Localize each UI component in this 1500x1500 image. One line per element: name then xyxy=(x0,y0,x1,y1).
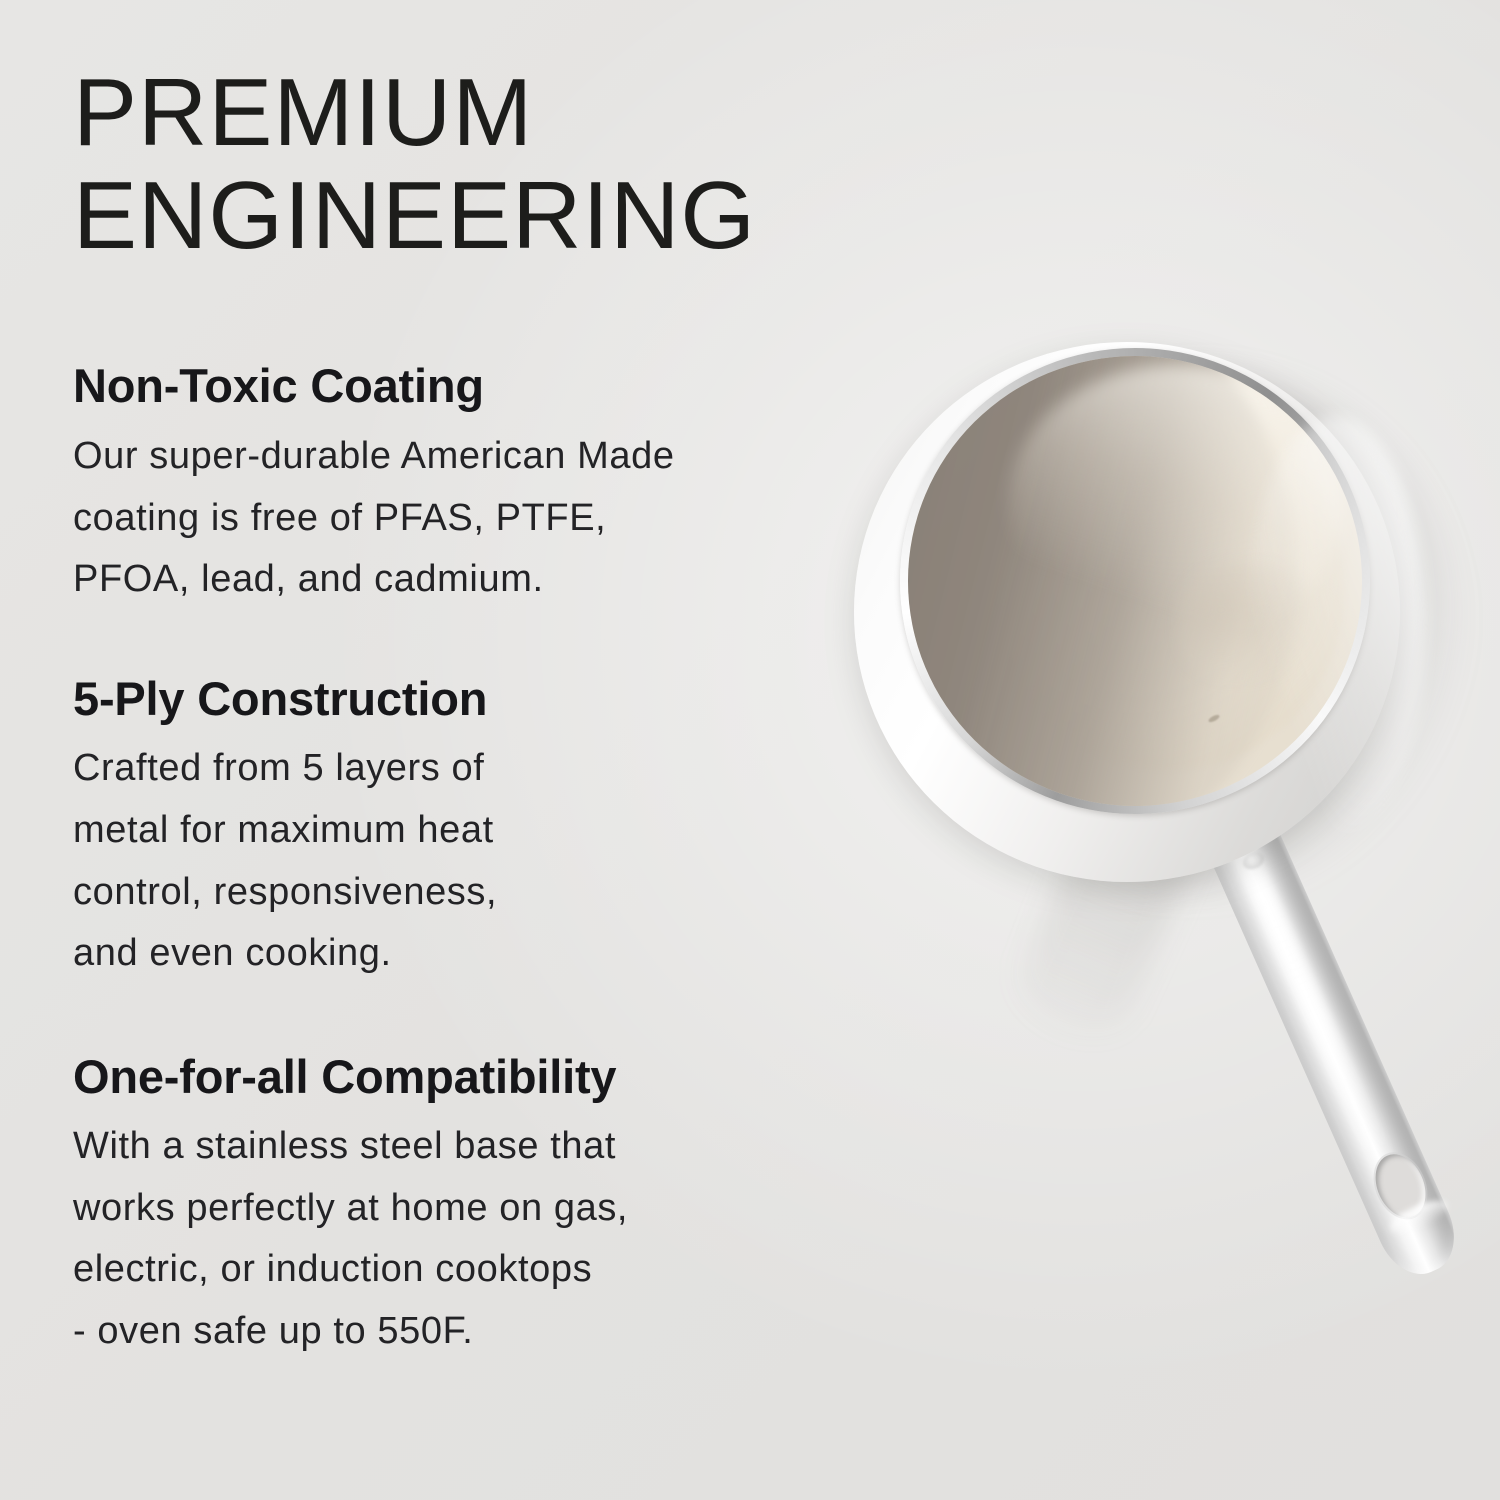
product-image-saucepan xyxy=(800,300,1500,1360)
feature-title-one-for-all-compatibility: One-for-all Compatibility xyxy=(73,1051,873,1103)
page-title: PREMIUM ENGINEERING xyxy=(73,62,873,267)
feature-list: Non-Toxic Coating Our super-durable Amer… xyxy=(73,360,873,1362)
feature-title-non-toxic-coating: Non-Toxic Coating xyxy=(73,360,873,412)
feature-body-non-toxic-coating: Our super-durable American Made coating … xyxy=(73,426,873,611)
copy-column: PREMIUM ENGINEERING Non-Toxic Coating Ou… xyxy=(73,62,873,1363)
feature-body-5-ply-construction: Crafted from 5 layers of metal for maxim… xyxy=(73,738,873,984)
feature-item-5-ply-construction: 5-Ply Construction Crafted from 5 layers… xyxy=(73,673,873,985)
feature-item-non-toxic-coating: Non-Toxic Coating Our super-durable Amer… xyxy=(73,360,873,610)
outer-wall-gloss xyxy=(1246,416,1426,836)
saucepan-outer-shell xyxy=(854,342,1400,882)
feature-item-one-for-all-compatibility: One-for-all Compatibility With a stainle… xyxy=(73,1051,873,1363)
feature-body-one-for-all-compatibility: With a stainless steel base that works p… xyxy=(73,1116,873,1362)
infographic-canvas: PREMIUM ENGINEERING Non-Toxic Coating Ou… xyxy=(0,0,1500,1500)
feature-title-5-ply-construction: 5-Ply Construction xyxy=(73,673,873,725)
